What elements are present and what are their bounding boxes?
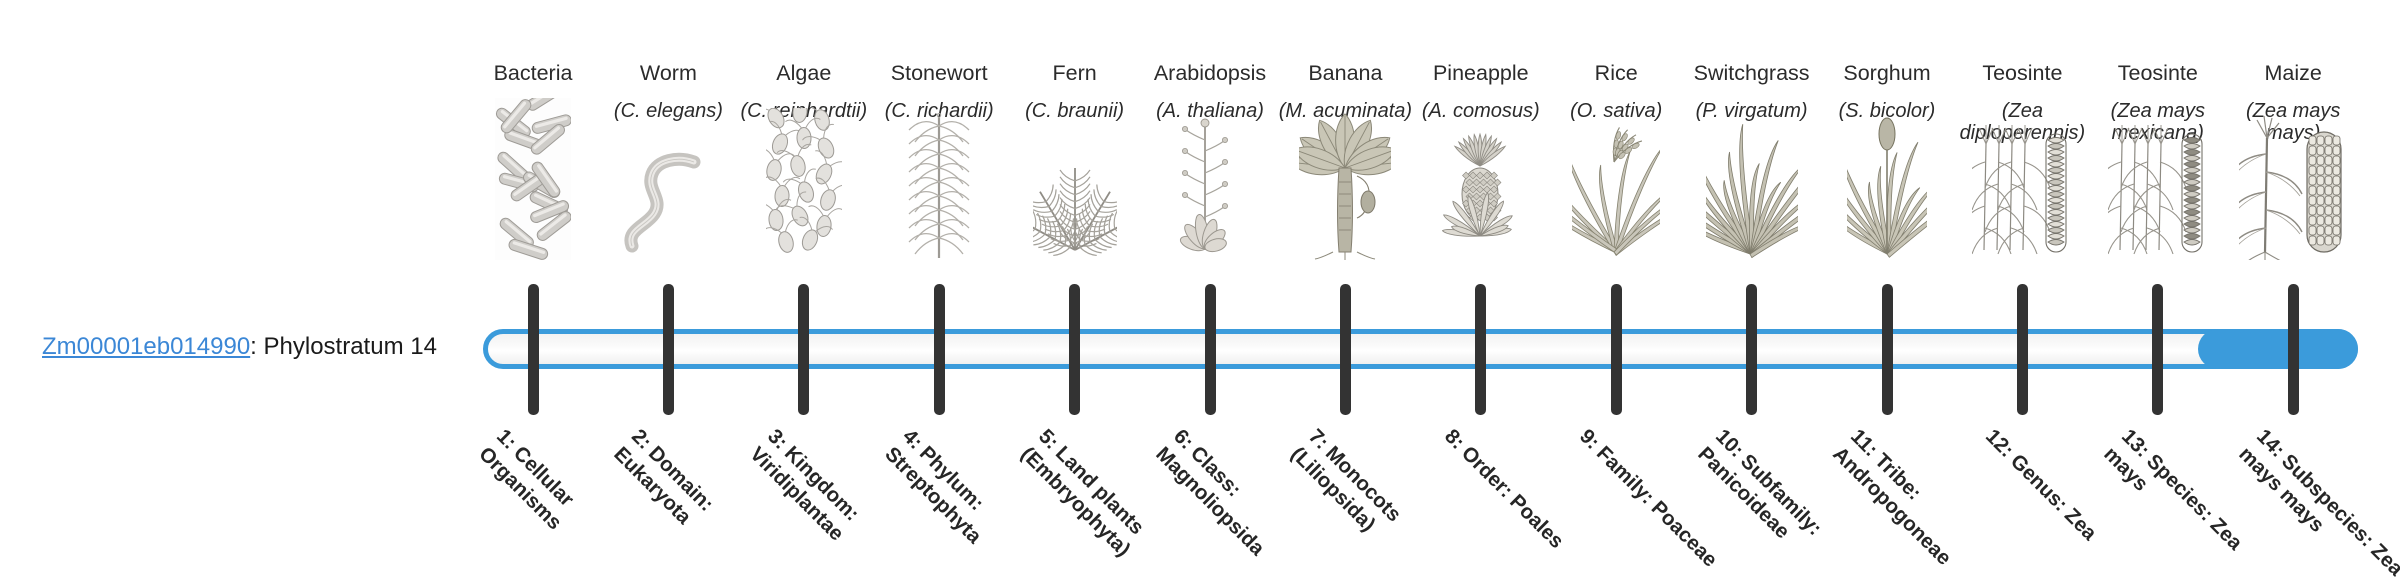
species-common-name: Bacteria <box>466 62 600 85</box>
progress-fill <box>2198 329 2358 369</box>
phylostratum-value: Phylostratum 14 <box>264 333 437 360</box>
banana-icon <box>1278 155 1412 260</box>
phylostratum-progress-bar[interactable] <box>483 329 2358 369</box>
species-common-name: Arabidopsis <box>1143 62 1277 85</box>
species-common-name: Banana <box>1278 62 1412 85</box>
species-common-name: Switchgrass <box>1685 62 1819 85</box>
pineapple-icon <box>1414 155 1548 260</box>
species-scientific-name: (C. elegans) <box>593 100 743 122</box>
sorghum-icon <box>1820 155 1954 260</box>
species-common-name: Fern <box>1008 62 1142 85</box>
timeline-tick <box>528 284 539 415</box>
timeline-tick <box>1205 284 1216 415</box>
timeline-tick <box>1882 284 1893 415</box>
timeline-tick <box>798 284 809 415</box>
timeline-tick <box>1611 284 1622 415</box>
rice-icon <box>1549 155 1683 260</box>
timeline-tick <box>1340 284 1351 415</box>
timeline-tick <box>934 284 945 415</box>
timeline-tick <box>2017 284 2028 415</box>
timeline-tick <box>1069 284 1080 415</box>
species-common-name: Algae <box>737 62 871 85</box>
label-separator: : <box>250 333 263 360</box>
species-common-name: Pineapple <box>1414 62 1548 85</box>
phylostratum-rank-label: 8: Order: Poales <box>1439 424 1598 580</box>
worm-icon <box>601 155 735 260</box>
timeline-tick <box>1475 284 1486 415</box>
species-common-name: Stonewort <box>872 62 1006 85</box>
stonewort-icon <box>872 155 1006 260</box>
timeline-tick <box>2152 284 2163 415</box>
species-common-name: Teosinte <box>1955 62 2089 85</box>
species-common-name: Rice <box>1549 62 1683 85</box>
species-common-name: Maize <box>2226 62 2360 85</box>
fern-icon <box>1008 155 1142 260</box>
species-common-name: Worm <box>601 62 735 85</box>
timeline-tick <box>2288 284 2299 415</box>
gene-phylostratum-label: Zm00001eb014990: Phylostratum 14 <box>42 333 437 361</box>
timeline-tick <box>1746 284 1757 415</box>
progress-track <box>483 329 2358 369</box>
species-common-name: Teosinte <box>2091 62 2225 85</box>
bacteria-icon <box>466 155 600 260</box>
species-common-name: Sorghum <box>1820 62 1954 85</box>
switchgrass-icon <box>1685 155 1819 260</box>
algae-icon <box>737 155 871 260</box>
phylostratum-timeline-figure: Zm00001eb014990: Phylostratum 14 Bacteri… <box>0 0 2400 580</box>
maize-icon <box>2226 155 2360 260</box>
arabidopsis-icon <box>1143 155 1277 260</box>
gene-accession-link[interactable]: Zm00001eb014990 <box>42 333 250 360</box>
timeline-tick <box>663 284 674 415</box>
teosinte-mexicana-icon <box>2091 155 2225 260</box>
teosinte-diploperennis-icon <box>1955 155 2089 260</box>
